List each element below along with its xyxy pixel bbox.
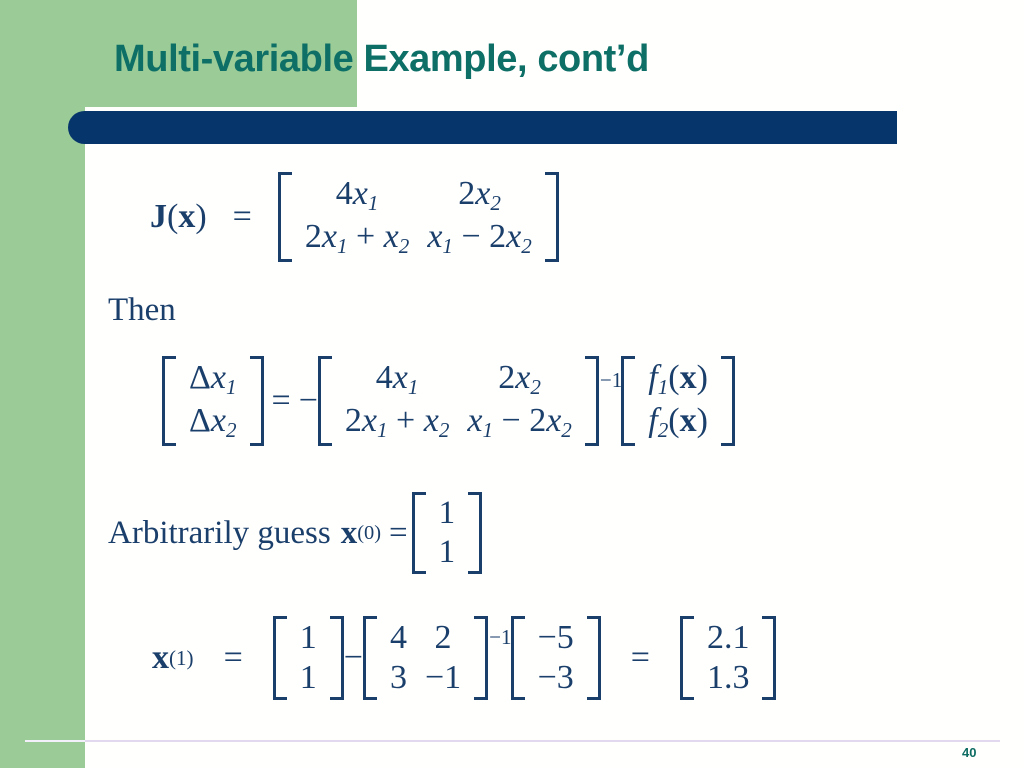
delta-cell-1: Δx1 bbox=[180, 358, 246, 401]
minus-sign: − bbox=[299, 382, 318, 420]
x-superscript-0: (0) bbox=[357, 522, 381, 545]
iterate-vector-1: 1 1 bbox=[273, 616, 344, 700]
numeric-jacobian-matrix: 4 2 3 −1 bbox=[363, 616, 488, 700]
result-vector: 2.1 1.3 bbox=[680, 616, 777, 700]
inverse-exponent: −1 bbox=[489, 625, 511, 650]
residual-cell-1: −5 bbox=[529, 618, 583, 658]
then-label: Then bbox=[108, 292, 176, 329]
delta-cell-2: Δx2 bbox=[180, 401, 246, 444]
x-superscript-1: (1) bbox=[169, 646, 194, 671]
x-symbol: x bbox=[341, 515, 358, 552]
matrix-cell-r2c2: x1 − 2x2 bbox=[418, 217, 540, 260]
equals-sign: = bbox=[272, 382, 291, 420]
function-vector: f1(x) f2(x) bbox=[621, 356, 735, 446]
delta-vector: Δx1 Δx2 bbox=[162, 356, 264, 446]
result-cell-1: 2.1 bbox=[698, 618, 759, 658]
function-cell-1: f1(x) bbox=[639, 358, 717, 401]
matrix-cell-r1c2: 2x2 bbox=[489, 358, 550, 401]
jacobian-matrix: 4x1 2x2 2x1 + x2 x1 − 2x2 bbox=[278, 172, 559, 262]
equals-sign: = bbox=[233, 198, 252, 236]
footer-divider bbox=[25, 740, 1000, 742]
jacobian-symbol: J bbox=[150, 198, 167, 236]
num-matrix-r1c2: 2 bbox=[426, 618, 461, 658]
num-matrix-r1c1: 4 bbox=[381, 618, 416, 658]
equals-sign-2: = bbox=[631, 639, 650, 677]
slide-canvas: Multi-variable Example, cont’d J(x) = 4x… bbox=[0, 0, 1024, 768]
vector-x: x bbox=[178, 198, 195, 236]
paren-open: ( bbox=[167, 198, 178, 236]
navy-title-banner bbox=[68, 111, 897, 144]
equation-jacobian: J(x) = 4x1 2x2 2x1 + x2 x1 − 2x2 bbox=[150, 172, 559, 262]
footer-divider-highlight bbox=[25, 740, 85, 742]
matrix-cell-r2c2: x1 − 2x2 bbox=[458, 401, 580, 444]
jacobian-matrix-inverse: 4x1 2x2 2x1 + x2 x1 − 2x2 bbox=[318, 356, 599, 446]
x-symbol: x bbox=[152, 639, 169, 677]
page-title: Multi-variable Example, cont’d bbox=[114, 38, 649, 81]
guess-cell-2: 1 bbox=[430, 533, 465, 572]
initial-guess-vector: 1 1 bbox=[412, 492, 483, 574]
matrix-cell-r1c1: 4x1 bbox=[367, 358, 428, 401]
equals-sign: = bbox=[389, 515, 408, 552]
matrix-cell-r1c2: 2x2 bbox=[449, 174, 510, 217]
guess-label: Arbitrarily guess bbox=[108, 515, 331, 552]
inverse-exponent: −1 bbox=[600, 368, 622, 393]
residual-vector: −5 −3 bbox=[511, 616, 601, 700]
equation-first-iterate: x(1) = 1 1 − 4 2 bbox=[152, 616, 776, 700]
matrix-cell-r1c1: 4x1 bbox=[327, 174, 388, 217]
matrix-cell-r2c1: 2x1 + x2 bbox=[336, 401, 458, 444]
residual-cell-2: −3 bbox=[529, 658, 583, 698]
iterate-v1-cell-2: 1 bbox=[291, 658, 326, 698]
guess-cell-1: 1 bbox=[430, 494, 465, 533]
iterate-v1-cell-1: 1 bbox=[291, 618, 326, 658]
num-matrix-r2c1: 3 bbox=[381, 658, 416, 698]
function-cell-2: f2(x) bbox=[639, 401, 717, 444]
num-matrix-r2c2: −1 bbox=[416, 658, 470, 698]
page-number: 40 bbox=[962, 745, 976, 760]
green-side-strip bbox=[0, 107, 85, 768]
matrix-cell-r2c1: 2x1 + x2 bbox=[296, 217, 418, 260]
initial-guess-line: Arbitrarily guess x(0) = 1 1 bbox=[108, 492, 482, 574]
equation-delta-update: Δx1 Δx2 = − 4x1 2x2 2x1 + x2 x1 − 2x2 bbox=[162, 356, 735, 446]
result-cell-2: 1.3 bbox=[698, 658, 759, 698]
equals-sign-1: = bbox=[224, 639, 243, 677]
paren-close: ) bbox=[195, 198, 206, 236]
minus-sign: − bbox=[344, 639, 363, 677]
